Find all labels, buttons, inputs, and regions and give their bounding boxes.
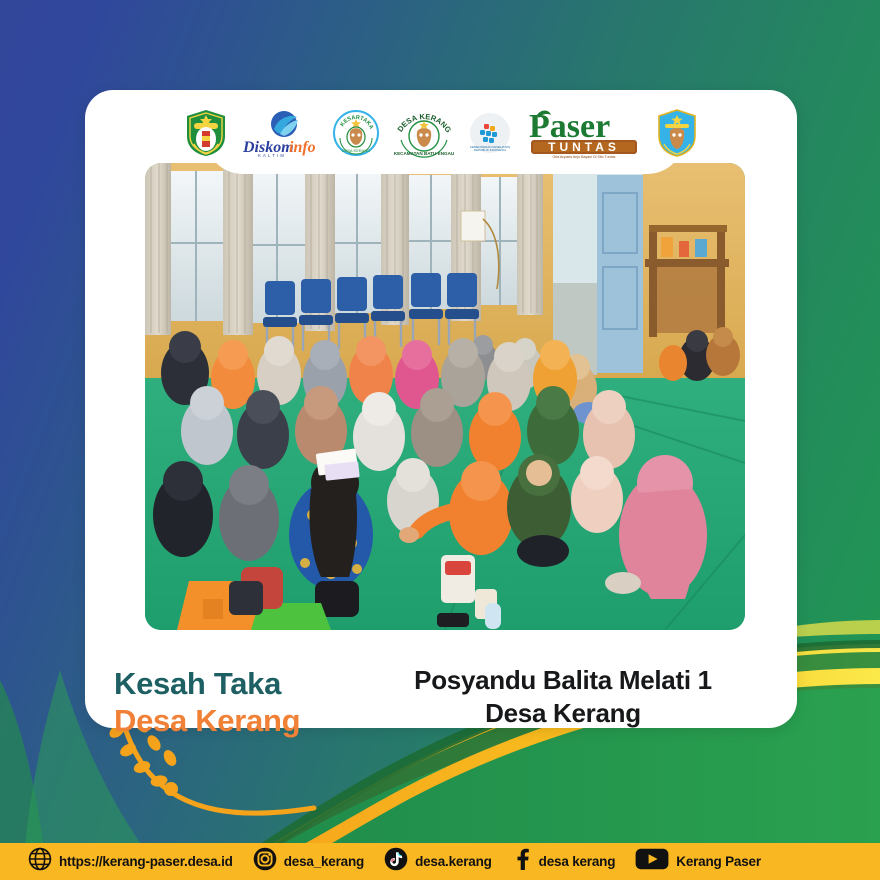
social-item-website[interactable]: https://kerang-paser.desa.id [28, 847, 233, 876]
instagram-label: desa_kerang [284, 854, 364, 869]
instagram-icon [253, 847, 277, 876]
logo-diskominfo-kaltim: Diskom info KALTIM [241, 108, 319, 163]
website-label: https://kerang-paser.desa.id [59, 854, 233, 869]
brand-line-2: Desa Kerang [114, 703, 355, 740]
footer-social-bar: https://kerang-paser.desa.id desa_kerang [0, 843, 880, 880]
facebook-label: desa kerang [539, 854, 616, 869]
svg-text:DESA KERANG: DESA KERANG [342, 148, 371, 153]
globe-icon [28, 847, 52, 876]
caption-area: Kesah Taka Desa Kerang Posyandu Balita M… [85, 660, 797, 790]
brand-line-1: Kesah Taka [114, 666, 355, 703]
svg-text:KALTIM: KALTIM [258, 153, 286, 158]
logo-kabupaten-paser [185, 108, 227, 163]
title-block: Posyandu Balita Melati 1 Desa Kerang [355, 660, 797, 731]
posyandu-activity-photo [145, 163, 745, 630]
social-item-facebook[interactable]: desa kerang [512, 847, 616, 876]
svg-text:REPUBLIK INDONESIA: REPUBLIK INDONESIA [474, 148, 506, 152]
logo-kesartaka-desa-kerang: KESARTAKA DESA KERANG [333, 110, 379, 161]
logo-strip: Diskom info KALTIM KESARTAKA [85, 104, 797, 166]
tiktok-label: desa.kerang [415, 854, 492, 869]
svg-text:Gita Anparis Anju Bayani Di Si: Gita Anparis Anju Bayani Di Sito Tuntas [553, 155, 616, 159]
logo-provinsi-kaltim [657, 108, 697, 163]
logo-paser-tuntas: Paser TUNTAS Gita Anparis Anju Bayani Di… [525, 107, 643, 164]
title-line-1: Posyandu Balita Melati 1 [355, 664, 771, 697]
poster-canvas: Diskom info KALTIM KESARTAKA [0, 0, 880, 880]
content-card: Diskom info KALTIM KESARTAKA [85, 90, 797, 728]
social-item-tiktok[interactable]: desa.kerang [384, 847, 492, 876]
tiktok-icon [384, 847, 408, 876]
logo-desa-kerang: DESA KERANG KECAMATAN BATU ENGAU [393, 108, 455, 163]
svg-text:TUNTAS: TUNTAS [548, 140, 620, 154]
logo-kemenkes: KEMENTERIAN KESEHATAN REPUBLIK INDONESIA [469, 112, 511, 159]
svg-text:info: info [289, 139, 316, 156]
youtube-label: Kerang Paser [676, 854, 761, 869]
svg-text:KECAMATAN BATU ENGAU: KECAMATAN BATU ENGAU [394, 151, 455, 156]
facebook-icon [512, 847, 532, 876]
title-line-2: Desa Kerang [355, 697, 771, 730]
social-item-instagram[interactable]: desa_kerang [253, 847, 364, 876]
youtube-icon [635, 847, 669, 876]
social-item-youtube[interactable]: Kerang Paser [635, 847, 761, 876]
brand-block: Kesah Taka Desa Kerang [85, 660, 355, 739]
